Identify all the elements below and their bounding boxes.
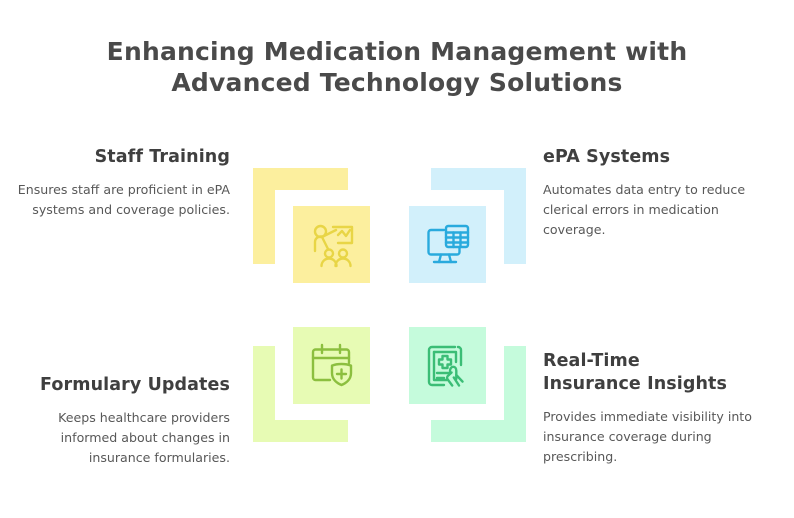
card-text-staff-training: Staff Training Ensures staff are profici…: [2, 146, 230, 220]
bracket-bar-vertical: [253, 346, 275, 442]
icon-tile-insurance-insights: [406, 324, 526, 442]
card-body-staff-training: Ensures staff are proficient in ePA syst…: [2, 180, 230, 220]
monitor-data-table-icon: [421, 218, 475, 272]
card-heading-line: ePA Systems: [543, 146, 771, 169]
icon-tile-epa-systems: [406, 168, 526, 286]
icon-square-formulary-updates: [293, 327, 370, 404]
icon-square-staff-training: [293, 206, 370, 283]
card-text-insurance-insights: Real-Time Insurance Insights Provides im…: [543, 350, 771, 467]
page-title: Enhancing Medication Management with Adv…: [0, 36, 794, 98]
card-heading-line: Staff Training: [2, 146, 230, 169]
bracket-bar-vertical: [504, 168, 526, 264]
hand-holding-medical-record-icon: [421, 339, 475, 393]
icon-tile-formulary-updates: [253, 324, 373, 442]
card-heading-insurance-insights: Real-Time Insurance Insights: [543, 350, 771, 396]
card-heading-line: Insurance Insights: [543, 373, 771, 396]
page-title-line-1: Enhancing Medication Management with: [0, 36, 794, 67]
card-text-formulary-updates: Formulary Updates Keeps healthcare provi…: [2, 374, 230, 468]
card-text-epa-systems: ePA Systems Automates data entry to redu…: [543, 146, 771, 240]
training-presentation-icon: [305, 218, 359, 272]
calendar-medical-shield-icon: [305, 339, 359, 393]
card-body-insurance-insights: Provides immediate visibility into insur…: [543, 407, 771, 467]
bracket-bar-vertical: [253, 168, 275, 264]
icon-tile-staff-training: [253, 168, 373, 286]
icon-square-epa-systems: [409, 206, 486, 283]
card-heading-staff-training: Staff Training: [2, 146, 230, 169]
card-body-formulary-updates: Keeps healthcare providers informed abou…: [2, 408, 230, 468]
card-heading-line: Formulary Updates: [2, 374, 230, 397]
card-heading-epa-systems: ePA Systems: [543, 146, 771, 169]
card-heading-formulary-updates: Formulary Updates: [2, 374, 230, 397]
card-body-epa-systems: Automates data entry to reduce clerical …: [543, 180, 771, 240]
page-title-line-2: Advanced Technology Solutions: [0, 67, 794, 98]
card-heading-line: Real-Time: [543, 350, 771, 373]
bracket-bar-vertical: [504, 346, 526, 442]
icon-square-insurance-insights: [409, 327, 486, 404]
